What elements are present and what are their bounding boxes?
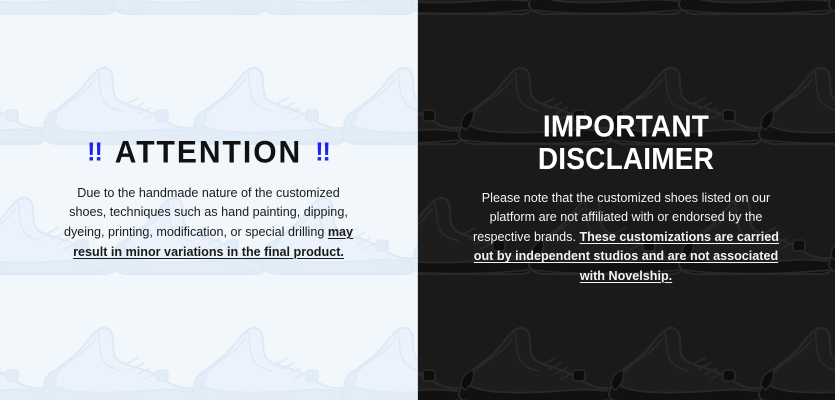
attention-heading: !! ATTENTION !!	[10, 138, 407, 168]
disclaimer-panel: IMPORTANT DISCLAIMER Please note that th…	[417, 0, 835, 400]
disclaimer-heading: IMPORTANT DISCLAIMER	[427, 111, 825, 176]
attention-heading-text: ATTENTION	[115, 137, 302, 169]
disclaimer-body-text: Please note that the customized shoes li…	[470, 189, 782, 287]
panel-divider	[417, 0, 418, 400]
double-exclamation-left-icon: !!	[87, 140, 102, 166]
attention-content: !! ATTENTION !! Due to the handmade natu…	[0, 138, 417, 262]
attention-body-normal: Due to the handmade nature of the custom…	[64, 186, 348, 239]
customization-disclaimer-banner: !! ATTENTION !! Due to the handmade natu…	[0, 0, 835, 400]
attention-body-text: Due to the handmade nature of the custom…	[59, 184, 359, 262]
disclaimer-content: IMPORTANT DISCLAIMER Please note that th…	[417, 113, 835, 286]
double-exclamation-right-icon: !!	[315, 140, 330, 166]
disclaimer-heading-line1: IMPORTANT	[427, 111, 825, 144]
attention-panel: !! ATTENTION !! Due to the handmade natu…	[0, 0, 417, 400]
disclaimer-heading-line2: DISCLAIMER	[427, 144, 825, 177]
